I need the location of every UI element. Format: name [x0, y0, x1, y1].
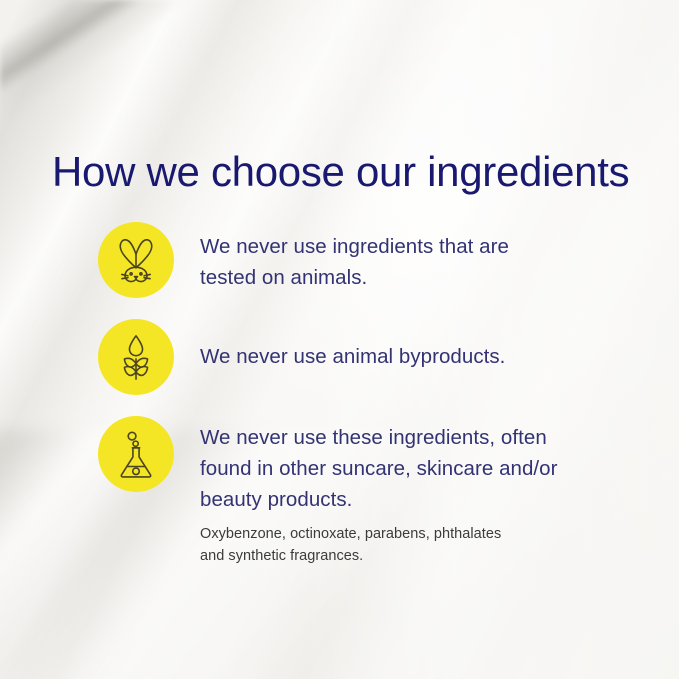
- body-line: We never use these ingredients, often: [200, 422, 600, 453]
- body-line: We never use ingredients that are: [200, 231, 600, 262]
- plant-droplet-icon: [98, 319, 174, 395]
- bunny-heart-ears-icon: [98, 222, 174, 298]
- page-title: How we choose our ingredients: [52, 150, 629, 194]
- list-item-body: We never use animal byproducts.: [200, 341, 600, 372]
- flask-bubbles-icon: [98, 416, 174, 492]
- body-line: We never use animal byproducts.: [200, 341, 600, 372]
- background-right-wash: [300, 0, 679, 679]
- ingredients-infographic: How we choose our ingredients: [0, 0, 679, 679]
- note-line: Oxybenzone, octinoxate, parabens, phthal…: [200, 524, 600, 546]
- list-item-body: We never use ingredients that are tested…: [200, 231, 600, 293]
- list-item-text: We never use animal byproducts.: [200, 341, 600, 372]
- list-item-text: We never use ingredients that are tested…: [200, 231, 600, 293]
- list-item-text: We never use these ingredients, often fo…: [200, 422, 600, 568]
- body-line: found in other suncare, skincare and/or: [200, 453, 600, 484]
- note-line: and synthetic fragrances.: [200, 546, 600, 568]
- list-item-note: Oxybenzone, octinoxate, parabens, phthal…: [200, 524, 600, 568]
- body-line: beauty products.: [200, 484, 600, 515]
- body-line: tested on animals.: [200, 262, 600, 293]
- list-item-body: We never use these ingredients, often fo…: [200, 422, 600, 515]
